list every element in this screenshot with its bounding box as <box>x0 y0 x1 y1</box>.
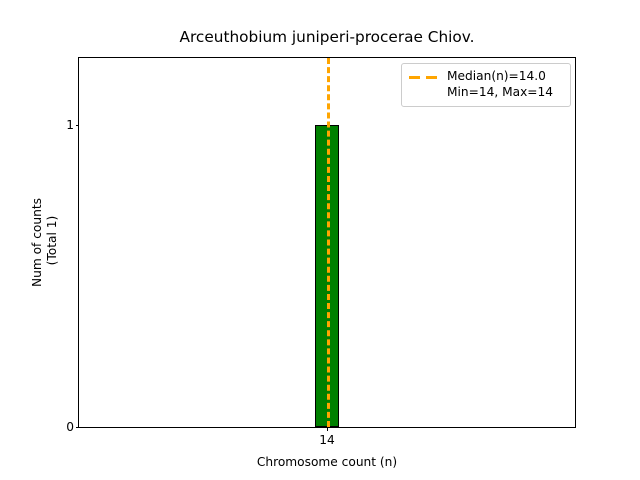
figure-canvas: Arceuthobium juniperi-procerae Chiov. 0 … <box>0 0 640 480</box>
legend-label-median: Median(n)=14.0 <box>447 69 546 83</box>
chart-title: Arceuthobium juniperi-procerae Chiov. <box>78 28 576 46</box>
legend-label-group: Median(n)=14.0 Min=14, Max=14 <box>447 69 553 100</box>
plot-area: 0 1 14 Median(n)=14.0 Min=14, Max=14 <box>78 57 576 428</box>
legend[interactable]: Median(n)=14.0 Min=14, Max=14 <box>401 63 571 107</box>
data-layer <box>79 58 575 427</box>
legend-median-line-icon <box>409 69 439 86</box>
x-axis-label: Chromosome count (n) <box>78 455 576 469</box>
median-line <box>327 58 330 427</box>
y-axis-label: Num of counts (Total 1) <box>22 57 68 428</box>
xtick-label-14: 14 <box>319 433 335 447</box>
xtick-mark <box>327 427 328 431</box>
ytick-mark <box>76 125 80 126</box>
ytick-mark <box>76 427 80 428</box>
legend-label-minmax: Min=14, Max=14 <box>447 85 553 101</box>
